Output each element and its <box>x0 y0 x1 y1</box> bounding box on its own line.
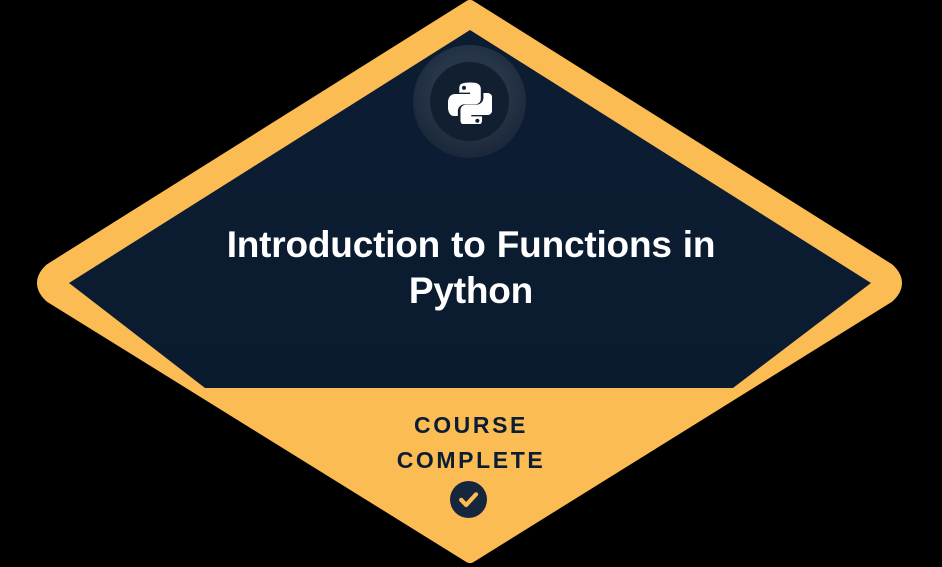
status-line-complete: COMPLETE <box>271 443 671 478</box>
completion-status: COURSE COMPLETE <box>271 408 671 478</box>
badge-inner-panel <box>69 30 871 388</box>
check-circle-icon <box>450 481 487 518</box>
course-completion-badge: Introduction to Functions in Python COUR… <box>0 0 942 567</box>
course-title: Introduction to Functions in Python <box>171 222 771 314</box>
status-line-course: COURSE <box>271 408 671 443</box>
